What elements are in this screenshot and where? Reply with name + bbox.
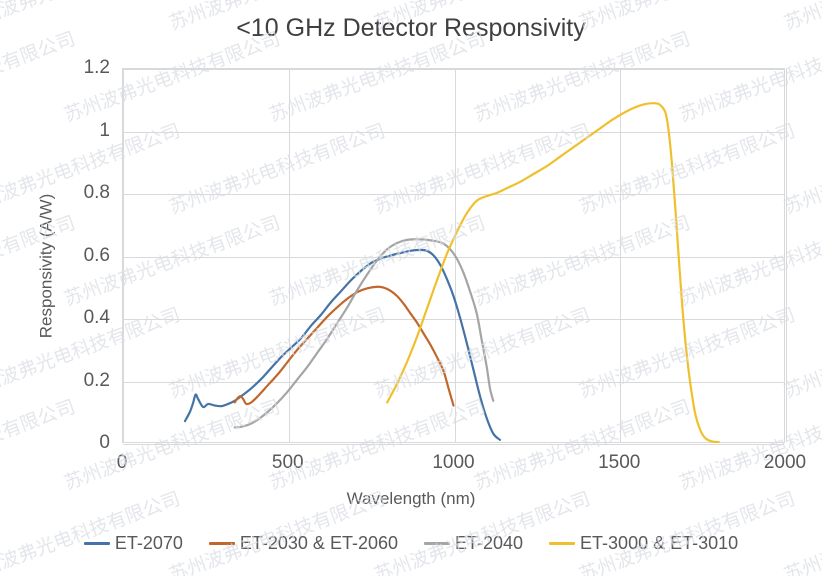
y-axis-title: Responsivity (A/W) (36, 194, 56, 339)
legend-item[interactable]: ET-2070 (84, 533, 183, 554)
y-axis-tick-label: 0.6 (10, 245, 110, 267)
y-axis-tick-label: 0.4 (10, 307, 110, 329)
chart-legend: ET-2070ET-2030 & ET-2060ET-2040ET-3000 &… (0, 533, 822, 554)
y-axis-tick-label: 0 (10, 432, 110, 454)
legend-item[interactable]: ET-3000 & ET-3010 (549, 533, 738, 554)
series-line (387, 103, 719, 442)
legend-item-label: ET-2040 (455, 533, 523, 554)
y-axis-tick-label: 0.8 (10, 182, 110, 204)
x-axis-tick-label: 500 (228, 452, 348, 474)
legend-line-icon (549, 542, 575, 545)
y-axis-tick-label: 1 (10, 120, 110, 142)
chart-title: <10 GHz Detector Responsivity (0, 14, 822, 43)
y-axis-tick-label: 0.2 (10, 370, 110, 392)
legend-item-label: ET-2070 (115, 533, 183, 554)
y-axis-tick-label: 1.2 (10, 57, 110, 79)
series-line (185, 250, 500, 440)
legend-line-icon (209, 542, 235, 545)
legend-item-label: ET-3000 & ET-3010 (580, 533, 738, 554)
chart-container: <10 GHz Detector Responsivity 00.20.40.6… (0, 0, 822, 576)
x-axis-tick-label: 0 (62, 452, 182, 474)
legend-item[interactable]: ET-2040 (424, 533, 523, 554)
legend-item-label: ET-2030 & ET-2060 (240, 533, 398, 554)
x-axis-tick-label: 1500 (559, 452, 679, 474)
x-axis-title: Wavelength (nm) (0, 489, 822, 509)
series-line (235, 287, 454, 406)
gridline-vertical (786, 69, 787, 442)
gridline-horizontal (123, 444, 784, 445)
legend-item[interactable]: ET-2030 & ET-2060 (209, 533, 398, 554)
x-axis-tick-label: 1000 (394, 452, 514, 474)
legend-line-icon (84, 542, 110, 545)
x-axis-tick-label: 2000 (725, 452, 822, 474)
legend-line-icon (424, 542, 450, 545)
series-lines (122, 68, 785, 443)
